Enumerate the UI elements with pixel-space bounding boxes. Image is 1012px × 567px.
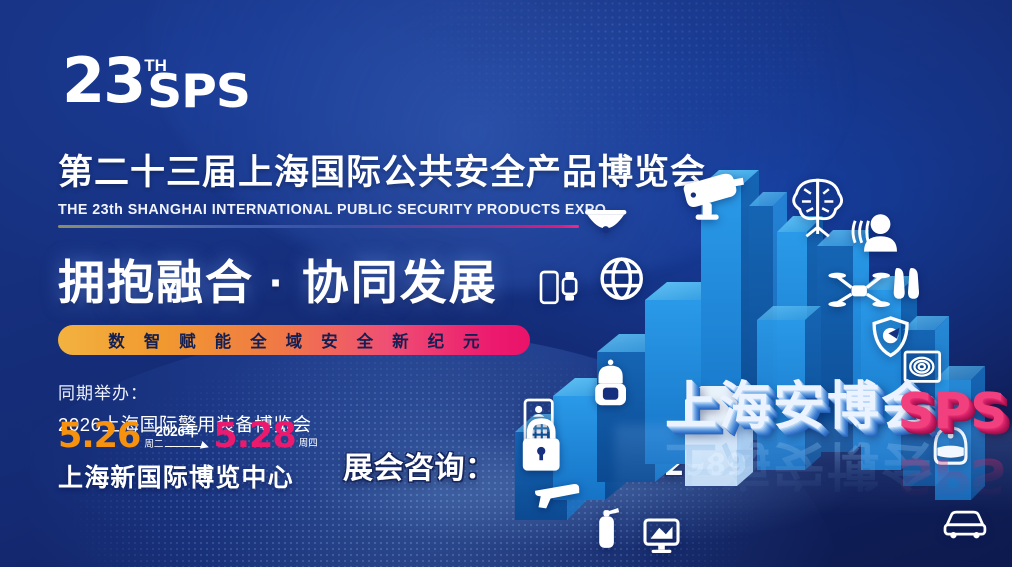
skyline-artwork: 上海安博会 SPS 上海安博会 SPS <box>505 0 1012 567</box>
logo-edition-number: 23 <box>62 52 144 109</box>
date-end-weekday: 周四 <box>299 439 318 449</box>
artwork-wordmark-en-reflection: SPS <box>897 447 1006 504</box>
artwork-wordmark-cn-reflection: 上海安博会 <box>665 432 935 507</box>
logo-brand: SPS <box>147 68 250 114</box>
date-year: 2026年 <box>156 425 199 439</box>
slogan-pill-text: 数 智 赋 能 全 域 安 全 新 纪 元 <box>101 328 487 352</box>
date-start-weekday: 周二 <box>144 440 163 450</box>
artwork-wordmark-en: SPS <box>897 383 1006 440</box>
venue-name: 上海新国际博览中心 <box>58 458 294 494</box>
event-date-row: 5.26 2026年 周二 5.28 周四 <box>58 420 318 452</box>
slogan-pill-banner: 数 智 赋 能 全 域 安 全 新 纪 元 <box>58 325 530 355</box>
date-range-arrow-icon <box>165 439 209 450</box>
title-divider <box>58 225 579 228</box>
date-middle-block: 2026年 周二 <box>144 425 209 450</box>
expo-poster: 23 TH SPS 第二十三届上海国际公共安全产品博览会 THE 23th SH… <box>0 0 1012 567</box>
artwork-wordmark-cn: 上海安博会 <box>665 364 935 439</box>
artwork-wordmark-group: 上海安博会 SPS 上海安博会 SPS <box>505 0 1012 567</box>
date-end: 5.28 <box>213 420 295 452</box>
contact-label: 展会咨询： <box>343 443 496 487</box>
date-start: 5.26 <box>58 420 140 452</box>
date-arrow-row: 周二 <box>144 439 209 450</box>
